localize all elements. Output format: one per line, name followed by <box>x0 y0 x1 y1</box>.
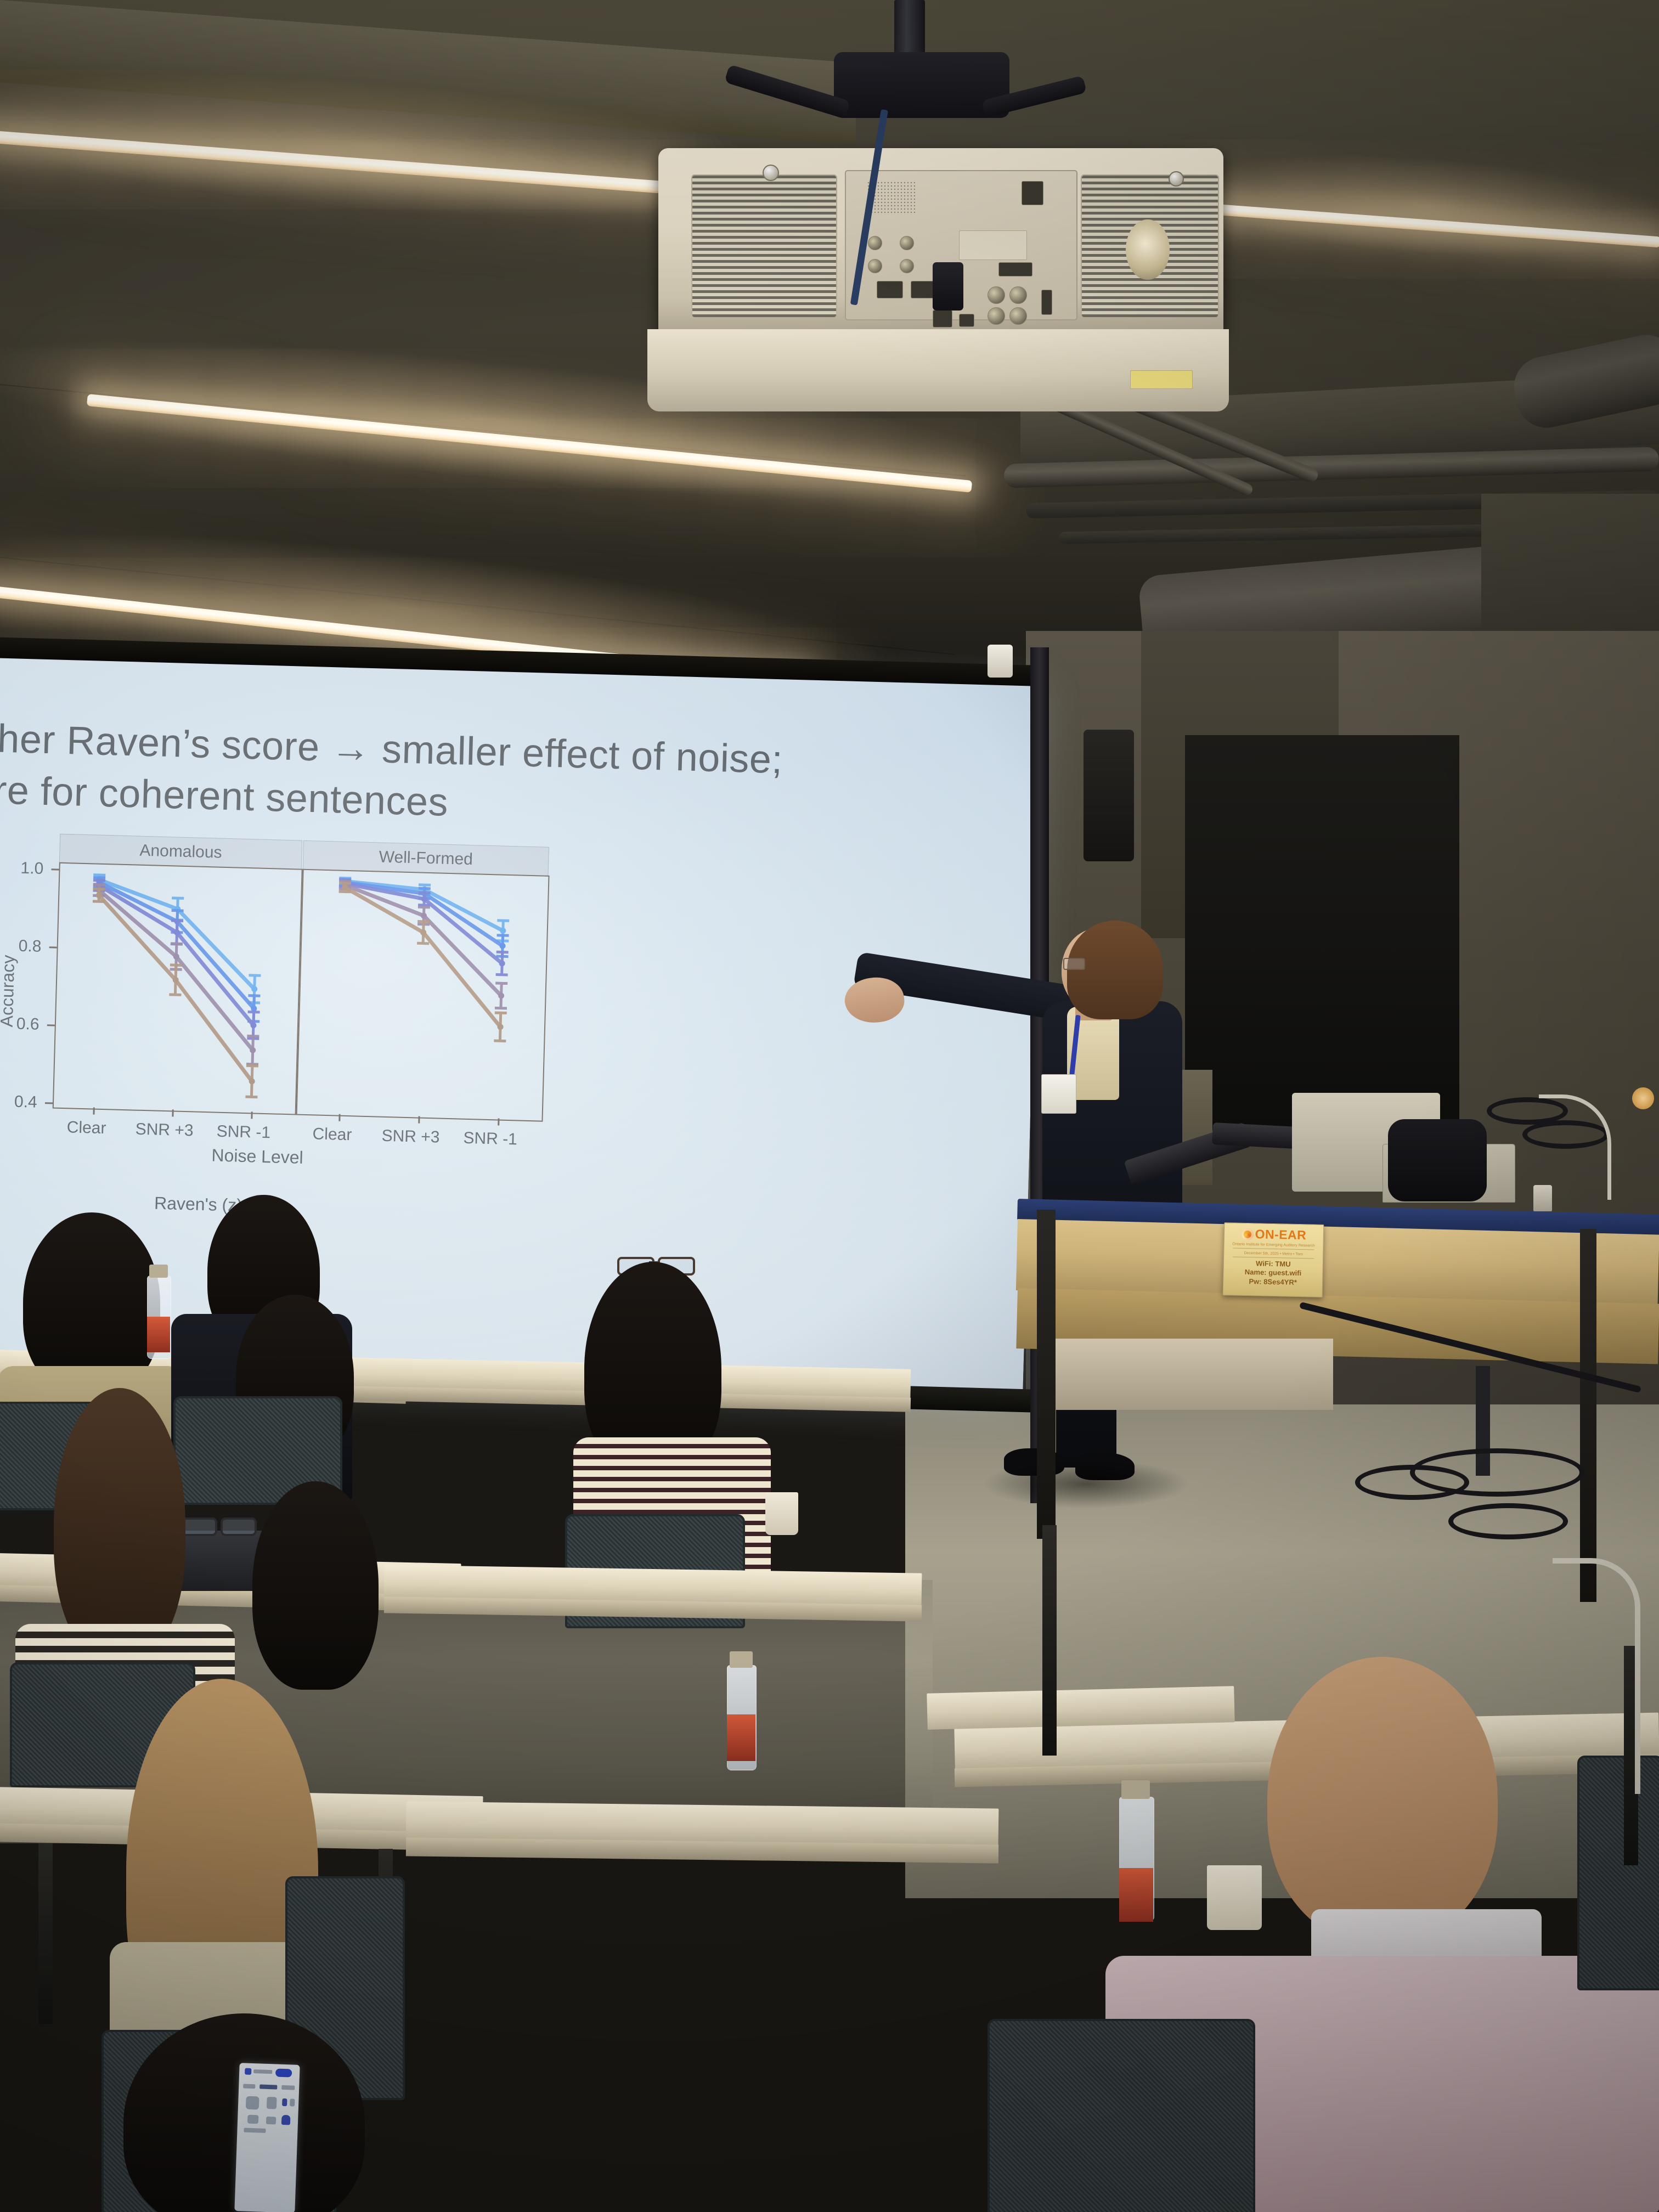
bottle-cap-row1 <box>149 1265 168 1278</box>
phone-screen <box>234 2063 300 2212</box>
audience-hair-6 <box>252 1481 379 1690</box>
bottle-cap-right <box>1121 1780 1150 1799</box>
desk-lamp-base <box>1533 1185 1552 1211</box>
projector-power-switch <box>1022 181 1043 205</box>
projector-audio-jack-1 <box>868 236 882 250</box>
phone-grid-icon-6 <box>266 2117 276 2125</box>
phone-grid-icon-2 <box>267 2097 277 2109</box>
bottle-cap-row3 <box>730 1651 753 1668</box>
presenter-name-badge <box>1041 1074 1076 1114</box>
spiral-icon <box>1241 1228 1253 1240</box>
paper-cup-right <box>1207 1865 1262 1930</box>
onear-event-line: December 5th, 2025 • Metro • Toro <box>1244 1251 1303 1256</box>
ceiling-vent-box <box>1481 494 1659 636</box>
stool-ring-right-1 <box>1355 1465 1469 1500</box>
podium-onear-sign: ON-EAR Ontario Institute for Emerging Au… <box>1223 1222 1324 1297</box>
floor-lamp-neck-right <box>1553 1558 1640 1794</box>
onear-brand-text: ON-EAR <box>1255 1227 1306 1243</box>
onear-subtitle: Ontario Institute for Emerging Auditory … <box>1232 1242 1315 1248</box>
office-chair-back <box>1388 1119 1487 1201</box>
doorway-dark <box>1185 735 1459 1130</box>
presenter-glasses <box>1063 958 1085 970</box>
phone-grid-icon-4 <box>290 2098 295 2106</box>
sign-divider-1 <box>1233 1248 1314 1250</box>
desk-row3-leg-1 <box>38 1843 53 2024</box>
bottle-label-right <box>1119 1868 1153 1922</box>
projector-hdmi-dongle <box>933 262 963 311</box>
chair-right-foreground <box>988 2019 1255 2212</box>
projector-adjust-screw-left <box>763 165 779 181</box>
projector-usb-port <box>1041 290 1052 315</box>
desk-right-mid <box>927 1686 1234 1730</box>
podium-leg-left <box>1037 1210 1056 1539</box>
onear-logo: ON-EAR <box>1241 1227 1306 1243</box>
projector-vga-port <box>998 262 1032 276</box>
phone-tab-3 <box>281 2085 295 2090</box>
phone-toggle <box>275 2068 292 2077</box>
projector-audio-jack-2 <box>868 259 882 273</box>
projector-spec-label <box>959 230 1027 260</box>
desk-lamp-bulb <box>1632 1087 1654 1109</box>
screen-roller-bracket <box>988 645 1013 678</box>
projector-rca-1 <box>988 286 1005 304</box>
projector-display-port <box>959 314 974 327</box>
audience-head-bald <box>1267 1657 1498 1942</box>
phone-tab-2 <box>259 2084 277 2089</box>
lecture-hall-photo: Higher Raven’s score → smaller effect of… <box>0 0 1659 2212</box>
sign-divider-2 <box>1233 1256 1314 1259</box>
wifi-password-label: Pw: 8Ses4YR* <box>1249 1277 1297 1287</box>
bottle-label-row1 <box>147 1317 170 1352</box>
presenter-floor-shadow <box>982 1459 1190 1509</box>
projector-audio-jack-4 <box>900 259 914 273</box>
phone-header-text <box>253 2069 272 2074</box>
bottle-label-row3 <box>727 1714 755 1761</box>
projector-rca-2 <box>1009 286 1027 304</box>
phone-app-icon <box>245 2068 251 2075</box>
projector-rca-4 <box>1009 307 1027 325</box>
projector-warning-sticker <box>1130 370 1193 389</box>
presenter-hair <box>1067 921 1163 1019</box>
projector-lan-port <box>933 310 952 328</box>
projector-rca-3 <box>988 307 1005 325</box>
phone-footer-text <box>244 2128 266 2133</box>
projector-adjust-screw-right <box>1169 171 1184 187</box>
podium-base-shelf <box>1048 1339 1333 1410</box>
eyeglasses-on-desk <box>181 1514 263 1536</box>
paper-cup-row1 <box>765 1492 798 1535</box>
stool-ring-right-2 <box>1448 1503 1568 1539</box>
phone-grid-icon-3 <box>282 2098 287 2106</box>
phone-grid-icon-5 <box>247 2115 259 2124</box>
podium-leg-right <box>1580 1229 1596 1602</box>
projector-audio-jack-3 <box>900 236 914 250</box>
wifi-network-label: WiFi: TMU <box>1256 1259 1291 1269</box>
projector-lamp-glow <box>1126 219 1170 280</box>
projector-vent-left <box>691 174 837 318</box>
phone-tab-1 <box>243 2084 255 2089</box>
phone-grid-icon-1 <box>246 2096 259 2110</box>
audience-hair-5 <box>54 1388 185 1662</box>
desk-leg-right-1 <box>1042 1525 1057 1756</box>
phone-bell-icon <box>281 2115 291 2125</box>
wall-speaker <box>1084 730 1134 861</box>
projector-hdmi-port-1 <box>877 281 903 298</box>
